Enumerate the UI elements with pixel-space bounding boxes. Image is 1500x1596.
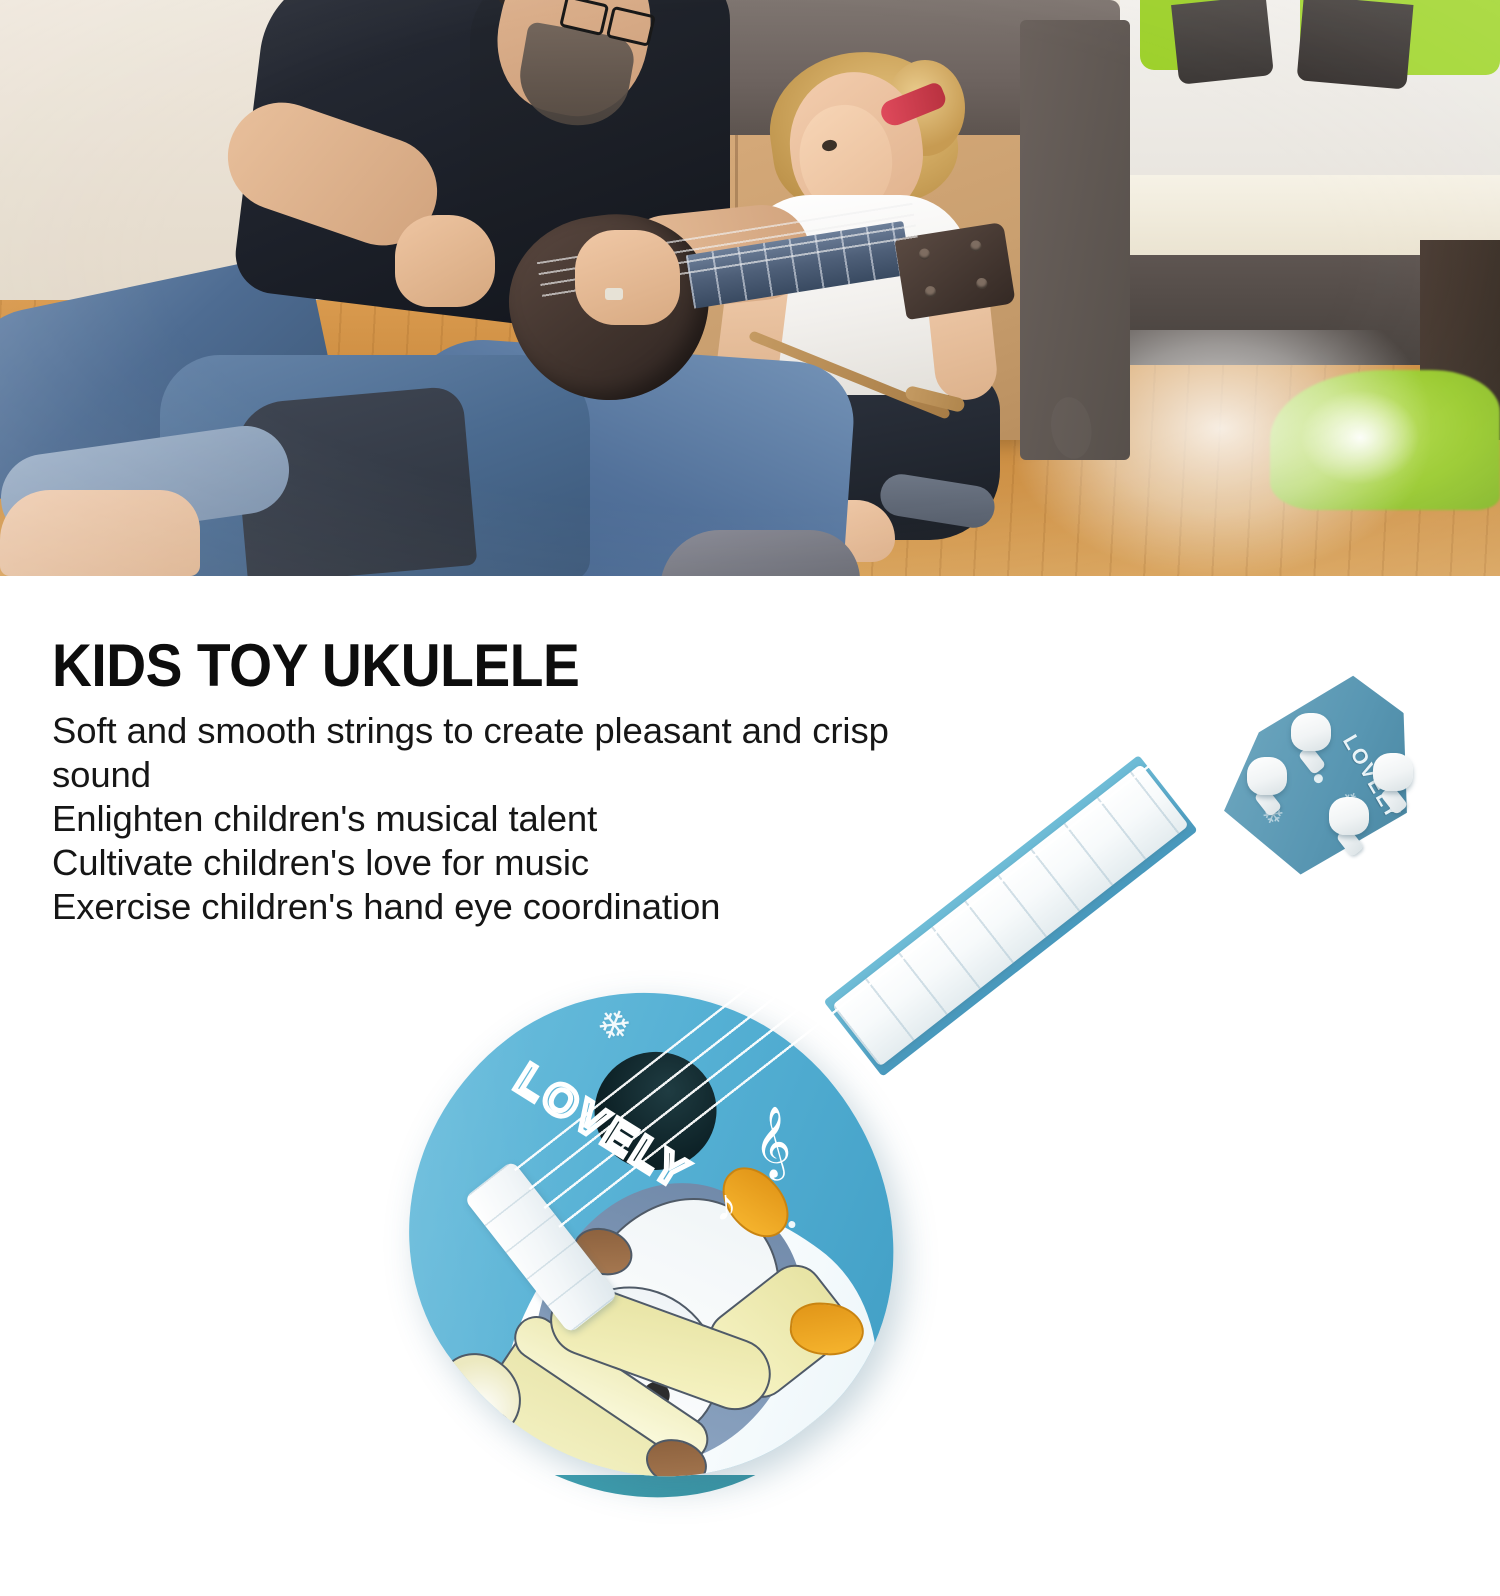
hero-lifestyle-photo — [0, 0, 1500, 576]
photo-tuning-peg-3 — [970, 240, 983, 253]
tuning-peg-1[interactable] — [1291, 713, 1331, 751]
treble-clef-icon: 𝄞 — [752, 1111, 793, 1175]
toy-ukulele-group: ❄ ❄ — [398, 691, 1473, 1481]
headstock-dot — [1312, 772, 1325, 785]
tuning-peg-2[interactable] — [1247, 757, 1287, 795]
snowflake-icon: ❄ — [590, 1000, 641, 1052]
eighth-note-icon: ♪ — [713, 1183, 738, 1228]
man-foot — [0, 490, 200, 576]
tuning-peg-3[interactable] — [1373, 753, 1413, 791]
floor-cushion — [660, 530, 860, 576]
dark-cushion-right — [1297, 0, 1414, 90]
tuning-peg-4[interactable] — [1329, 797, 1369, 835]
sofa-side-panel — [1020, 20, 1130, 460]
man-fretting-hand — [575, 230, 680, 325]
photo-tuning-peg-2 — [924, 285, 937, 298]
toy-ukulele: ❄ ❄ — [398, 691, 1473, 1481]
product-image-area: ❄ ❄ — [0, 576, 1500, 1475]
ukulele-headstock: ❄ ❄ — [1191, 652, 1460, 914]
photo-tuning-peg-4 — [975, 277, 988, 290]
man-wedding-ring — [605, 288, 623, 300]
photo-tuning-peg-1 — [918, 248, 931, 261]
ukulele-fretboard — [832, 764, 1189, 1067]
dark-cushion-left — [1171, 0, 1274, 85]
man-strumming-hand — [395, 215, 495, 307]
